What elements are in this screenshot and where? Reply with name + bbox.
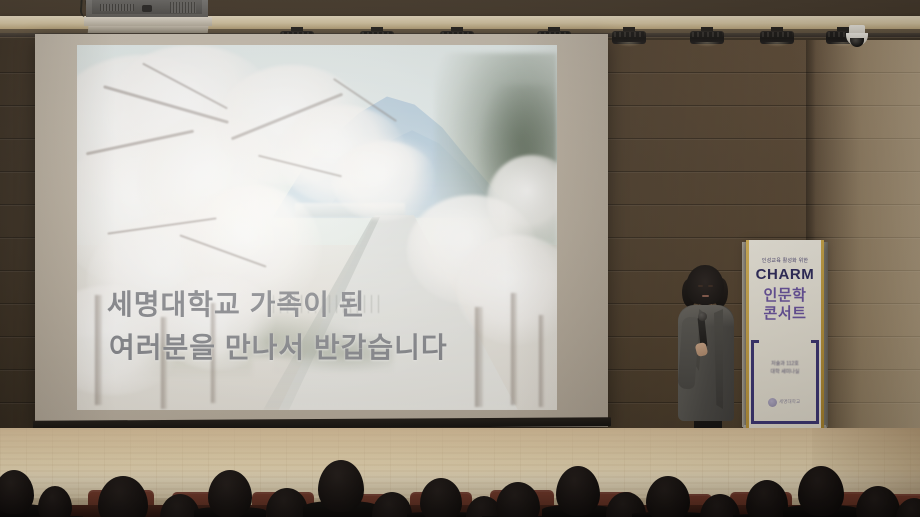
spotlight-barn-doors xyxy=(692,32,722,37)
projector-lens xyxy=(142,5,152,12)
projected-slide: 세명대학교 가족이 된 여러분을 만나서 반갑습니다 xyxy=(77,45,557,410)
banner-info-line-2: 대학 세미나실 xyxy=(746,368,824,375)
slide-headline-line-2: 여러분을 만나서 반갑습니다 xyxy=(91,326,551,369)
spotlight-barn-doors xyxy=(762,32,792,37)
banner-panel: 인성교육 활성화 위한 CHARM 인문학 콘서트 저술과 112호 대학 세미… xyxy=(746,240,824,428)
university-logo-mark xyxy=(768,398,777,407)
banner-tagline: 인성교육 활성화 위한 xyxy=(746,257,824,264)
floor-reflection xyxy=(0,428,920,468)
banner-university-logo: 세명대학교 xyxy=(768,398,802,407)
spotlight-glow xyxy=(694,42,720,47)
spotlight-icon xyxy=(690,27,724,47)
spotlight-icon xyxy=(612,27,646,47)
banner-title-line-2: 콘서트 xyxy=(746,302,824,323)
spotlight-glow xyxy=(616,42,642,47)
banner-info-line-1: 저술과 112호 xyxy=(746,360,824,367)
speaker-hair xyxy=(686,265,724,305)
slide-text-block: 세명대학교 가족이 된 여러분을 만나서 반갑습니다 xyxy=(91,283,551,369)
banner-frame-top-left xyxy=(751,340,759,343)
speaker-eye-right xyxy=(708,285,713,287)
auditorium-scene: 세명대학교 가족이 된 여러분을 만나서 반갑습니다 인성교육 활성화 위한 C… xyxy=(0,0,920,517)
audience-head xyxy=(798,466,844,516)
banner-inner-frame xyxy=(751,340,819,424)
projector-vent-secondary xyxy=(170,2,196,13)
slide-headline-line-1: 세명대학교 가족이 된 xyxy=(91,283,551,326)
roll-up-banner-stand: 인성교육 활성화 위한 CHARM 인문학 콘서트 저술과 112호 대학 세미… xyxy=(742,240,828,435)
audience-head xyxy=(556,466,600,516)
banner-frame-top-right xyxy=(811,340,819,343)
speaker-eye-left xyxy=(698,285,703,287)
audience-head xyxy=(318,460,364,512)
projector-vent xyxy=(100,4,134,11)
speaker-mouth xyxy=(702,295,709,297)
blossom-canopy xyxy=(332,141,437,221)
spotlight-barn-doors xyxy=(614,32,644,37)
university-logo-text: 세명대학교 xyxy=(779,399,803,405)
spotlight-glow xyxy=(764,42,790,47)
audience-head xyxy=(208,470,252,517)
projector-mount-shelf xyxy=(84,17,212,26)
banner-brand-name: CHARM xyxy=(746,266,824,283)
spotlight-icon xyxy=(760,27,794,47)
